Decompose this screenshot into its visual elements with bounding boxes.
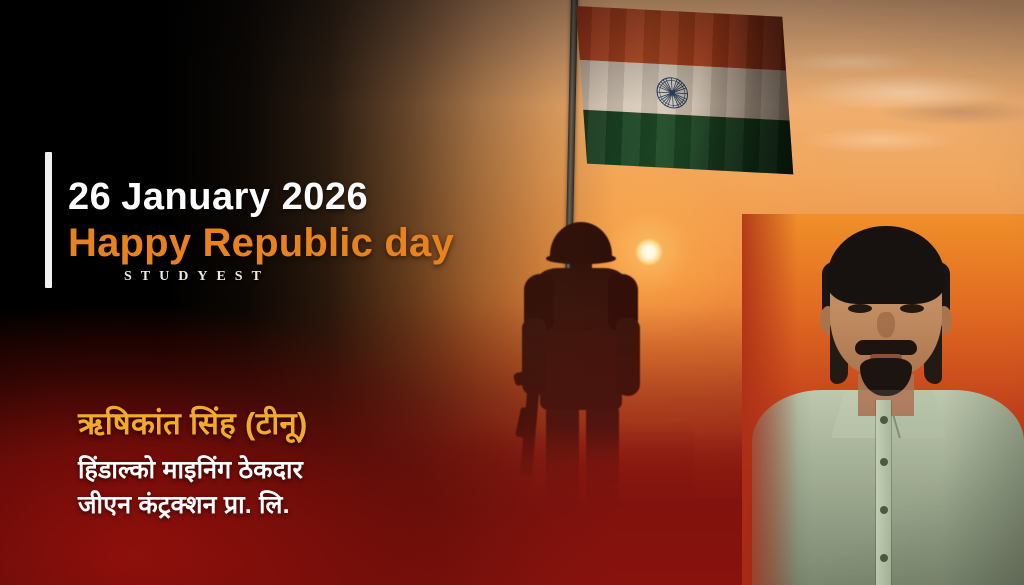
republic-day-poster: 26January 2026 Happy Republic day STUDYE… — [0, 0, 1024, 585]
global-vignette — [0, 0, 1024, 585]
